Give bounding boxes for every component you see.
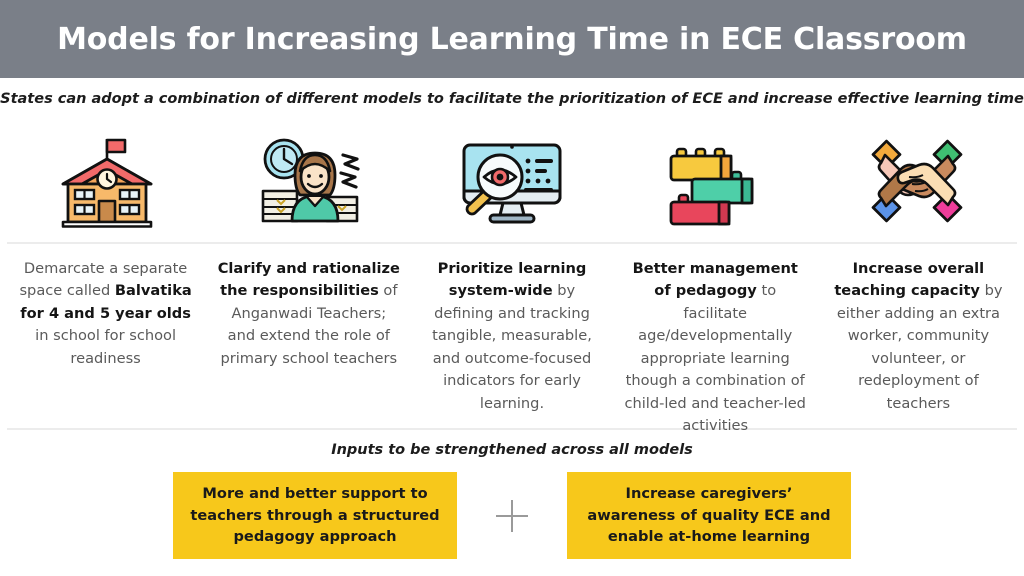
model-icon-cell-5 — [816, 120, 1018, 242]
monitor-magnifier-eye-icon — [456, 133, 568, 229]
model-description-2: Clarify and rationalize the responsibili… — [207, 258, 410, 428]
input-box-text-2: Increase caregivers’ awareness of qualit… — [583, 483, 835, 548]
input-box-caregiver-awareness[interactable]: Increase caregivers’ awareness of qualit… — [567, 472, 851, 559]
teamwork-hands-icon — [865, 133, 969, 229]
school-building-icon — [54, 133, 160, 229]
model-description-3: Prioritize learning system-wide by defin… — [410, 258, 613, 428]
inputs-heading: Inputs to be strengthened across all mod… — [0, 442, 1024, 458]
inputs-row: More and better support to teachers thro… — [0, 472, 1024, 559]
subtitle-text: States can adopt a combination of differ… — [0, 91, 1024, 107]
input-box-text-1: More and better support to teachers thro… — [189, 483, 441, 548]
model-icons-row — [0, 120, 1024, 242]
input-box-teacher-support[interactable]: More and better support to teachers thro… — [173, 472, 457, 559]
model-description-5: Increase overall teaching capacity by ei… — [817, 258, 1020, 428]
header-bar: Models for Increasing Learning Time in E… — [0, 0, 1024, 78]
model-icon-cell-3 — [411, 120, 613, 242]
model-icon-cell-1 — [6, 120, 208, 242]
page-title: Models for Increasing Learning Time in E… — [57, 22, 967, 57]
subtitle-row: States can adopt a combination of differ… — [0, 78, 1024, 120]
model-description-4: Better management of pedagogy to facilit… — [614, 258, 817, 428]
building-blocks-icon — [659, 133, 769, 229]
inputs-section: Inputs to be strengthened across all mod… — [0, 430, 1024, 559]
plus-icon — [457, 494, 567, 538]
model-description-1: Demarcate a separate space called Balvat… — [4, 258, 207, 428]
teacher-clock-icon — [251, 133, 369, 229]
model-icon-cell-4 — [613, 120, 815, 242]
model-descriptions-row: Demarcate a separate space called Balvat… — [0, 244, 1024, 428]
model-icon-cell-2 — [208, 120, 410, 242]
